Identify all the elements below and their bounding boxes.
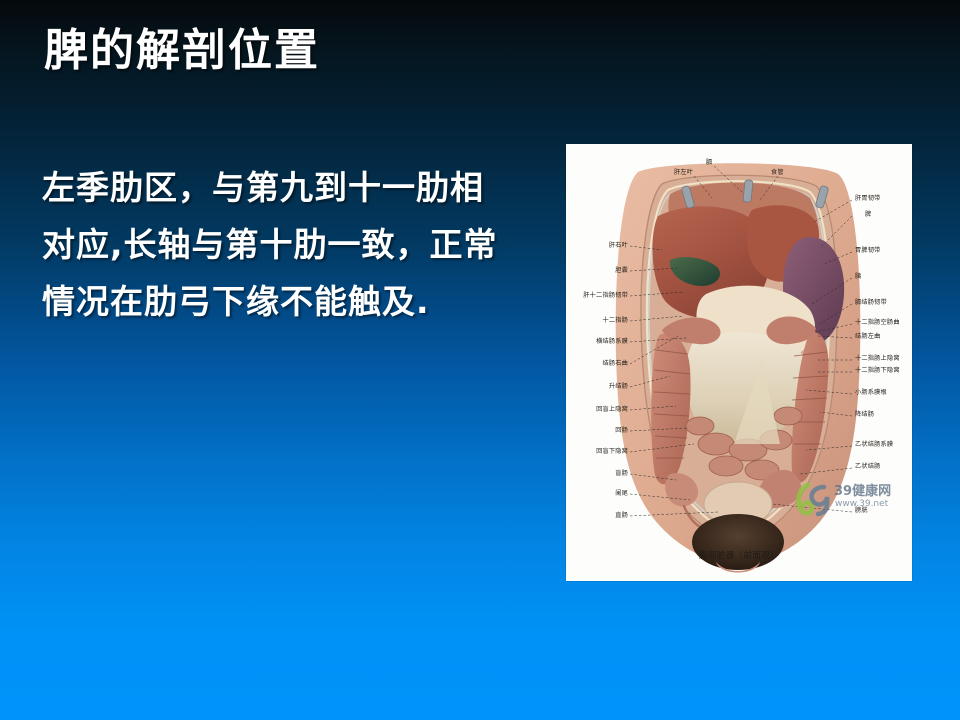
anatomy-label-superior-ileocecal-recess: 回盲上隐窝 <box>570 407 628 413</box>
anatomy-label-mesentery-root: 小肠系膜根 <box>855 390 887 396</box>
anatomy-label-left-colic-flexure: 结肠左曲 <box>855 334 881 340</box>
anatomy-label-inferior-duodenal-recess: 十二指肠下隐窝 <box>855 368 900 374</box>
anatomy-label-cecum: 盲肠 <box>572 471 628 477</box>
anatomy-figure-panel: 肝右叶 胆囊 肝十二指肠韧带 十二指肠 横结肠系膜 结肠右曲 升结肠 回盲上隐窝… <box>566 144 912 581</box>
slide-root: 脾的解剖位置 左季肋区，与第九到十一肋相对应,长轴与第十肋一致，正常情况在肋弓下… <box>0 0 960 720</box>
anatomy-label-duodenum: 十二指肠 <box>572 318 628 324</box>
anatomy-label-sigmoid-mesocolon: 乙状结肠系膜 <box>855 442 893 448</box>
anatomy-label-transverse-mesocolon: 横结肠系膜 <box>570 339 628 345</box>
anatomy-label-diaphragm: 膈 <box>706 160 712 166</box>
figure-caption: 腹部脏器（前面观） <box>566 549 912 561</box>
anatomy-label-ascending-colon: 升结肠 <box>572 384 628 390</box>
anatomy-label-liver-right-lobe: 肝右叶 <box>572 243 628 249</box>
anatomy-label-pancreas: 胰 <box>855 274 861 280</box>
anatomy-label-descending-colon: 降结肠 <box>855 412 874 418</box>
anatomy-label-hepatoduodenal-ligament: 肝十二指肠韧带 <box>568 293 628 299</box>
anatomy-label-spleen: 脾 <box>865 212 871 218</box>
anatomy-label-hepatogastric-ligament: 肝胃韧带 <box>855 196 881 202</box>
anatomy-label-inferior-ileocecal-recess: 回盲下隐窝 <box>570 449 628 455</box>
anatomy-label-ileum: 回肠 <box>572 428 628 434</box>
anatomy-label-phrenicocolic-ligament: 膈结肠韧带 <box>855 300 887 306</box>
anatomy-label-duodenojejunal-flexure: 十二指肠空肠曲 <box>855 320 900 326</box>
watermark: 39健康网 www.39.net <box>794 481 906 521</box>
page-title: 脾的解剖位置 <box>44 26 320 77</box>
anatomy-figure-inner: 肝右叶 胆囊 肝十二指肠韧带 十二指肠 横结肠系膜 结肠右曲 升结肠 回盲上隐窝… <box>566 144 912 581</box>
anatomy-label-superior-duodenal-recess: 十二指肠上隐窝 <box>855 356 900 362</box>
slide-body-text: 左季肋区，与第九到十一肋相对应,长轴与第十肋一致，正常情况在肋弓下缘不能触及. <box>42 160 512 330</box>
watermark-brand: 39健康网 <box>834 485 891 498</box>
anatomy-label-esophagus: 食管 <box>771 170 784 176</box>
anatomy-label-liver-left-lobe: 肝左叶 <box>674 170 693 176</box>
anatomy-label-appendix: 阑尾 <box>572 491 628 497</box>
anatomy-label-gallbladder: 胆囊 <box>572 268 628 274</box>
anatomy-label-right-colic-flexure: 结肠右曲 <box>572 361 628 367</box>
anatomy-label-gastrosplenic-ligament: 胃脾韧带 <box>855 248 881 254</box>
anatomy-label-rectum: 直肠 <box>572 513 628 519</box>
anatomy-label-sigmoid-colon: 乙状结肠 <box>855 464 881 470</box>
watermark-url: www.39.net <box>835 500 888 509</box>
39-logo-icon <box>794 481 834 517</box>
